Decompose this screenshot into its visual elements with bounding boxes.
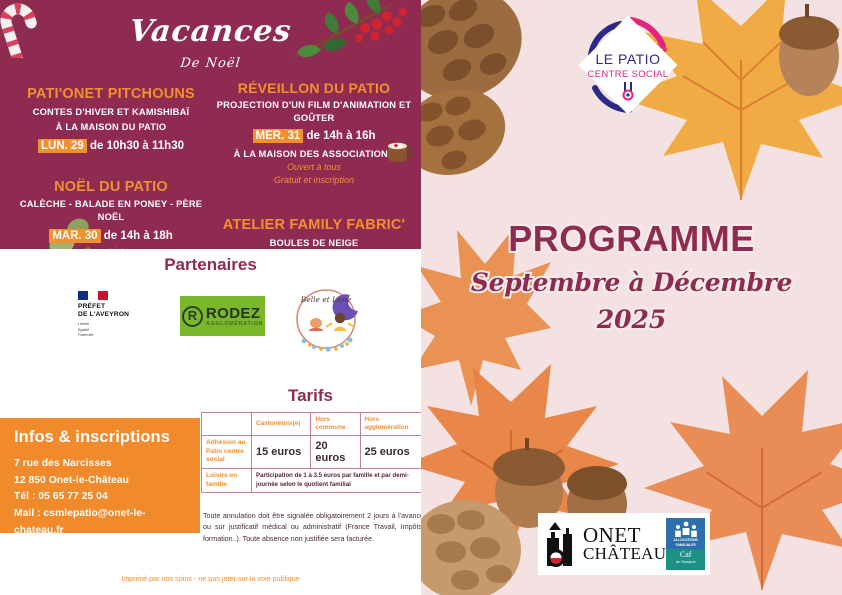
event-date-tag: MER. 31: [253, 129, 304, 143]
programme-period: Septembre à Décembre: [421, 268, 842, 297]
col-header-onetois: Castonétois(e): [252, 413, 311, 436]
event-subtitle: PROJECTION D'UN FILM D'ANIMATION ET GOÛT…: [208, 99, 420, 124]
col-header-hors-agglo: Hors agglomération: [360, 413, 421, 436]
table-header-row: Castonétois(e) Hors commune Hors agglomé…: [202, 413, 422, 436]
onet-line2: CHÂTEAU: [583, 546, 666, 562]
caf-name: Caf: [666, 551, 705, 559]
row-label-loisirs: Loisirs en famille: [202, 468, 252, 493]
infos-phone: Tél : 05 65 77 25 04: [14, 489, 188, 506]
programme-year: 2025: [421, 305, 842, 334]
event-subtitle: CONTES D'HIVER ET KAMISHIBAÏ: [6, 106, 216, 119]
event-schedule: MAR. 30 de 14h à 18h: [6, 229, 216, 243]
rodez-wordmark: RODEZ AGGLOMÉRATION: [206, 306, 263, 327]
event-card: ATELIER FAMILY FABRIC' BOULES DE NEIGE V…: [208, 217, 420, 249]
event-time: de 14h à 16h: [306, 130, 375, 142]
left-panel: Vacances De Noël PATI'ONET PITCHOUNS CON…: [0, 0, 421, 595]
loisirs-participation-text: Participation de 1 à 3.5 euros par famil…: [252, 468, 422, 493]
event-title: RÉVEILLON DU PATIO: [208, 80, 420, 96]
price-hors-commune: 20 euros: [311, 436, 360, 469]
logo-line2: CENTRE SOCIAL: [588, 68, 669, 79]
table-row: Loisirs en famille Participation de 1 à …: [202, 468, 422, 493]
partners-logos: PRÉFET DE L'AVEYRON Liberté Égalité Frat…: [0, 285, 421, 365]
vacances-title: Vacances: [0, 14, 421, 49]
event-card: NOËL DU PATIO CALÈCHE - BALADE EN PONEY …: [6, 179, 216, 249]
partners-heading: Partenaires: [0, 255, 421, 275]
le-patio-centre-social-logo: LE PATIO CENTRE SOCIAL: [573, 10, 683, 120]
infos-heading: Infos & inscriptions: [14, 428, 188, 447]
belle-et-lune-logo: Belle et Lune: [288, 285, 368, 357]
events-column-right: RÉVEILLON DU PATIO PROJECTION D'UN FILM …: [208, 80, 420, 249]
caf-family-icon: [673, 521, 699, 538]
caf-label: ALLOCATIONS FAMILIALES: [666, 538, 705, 547]
price-hors-agglo: 25 euros: [360, 436, 421, 469]
print-notice: Imprimé par nos soins - ne pas jeter sur…: [0, 574, 421, 583]
flyer-page: Vacances De Noël PATI'ONET PITCHOUNS CON…: [0, 0, 842, 595]
event-schedule: LUN. 29 de 10h30 à 11h30: [6, 139, 216, 153]
event-title: NOËL DU PATIO: [6, 179, 216, 196]
event-date-tag: MAR. 30: [49, 229, 100, 243]
prefet-aveyron-logo: PRÉFET DE L'AVEYRON Liberté Égalité Frat…: [78, 291, 150, 339]
event-title: ATELIER FAMILY FABRIC': [208, 217, 420, 234]
infos-city: 12 850 Onet-le-Château: [14, 473, 188, 490]
tarifs-table: Castonétois(e) Hors commune Hors agglomé…: [201, 412, 421, 493]
event-location: À LA MAISON DU PATIO: [6, 121, 216, 134]
acorn-decoration: [764, 0, 842, 104]
rodez-sub: AGGLOMÉRATION: [206, 321, 263, 327]
vacances-subtitle: De Noël: [0, 56, 421, 71]
event-time: de 10h30 à 11h30: [90, 140, 184, 152]
infos-address: 7 rue des Narcisses: [14, 456, 188, 473]
pine-cone-decoration: [421, 78, 516, 188]
right-panel: LE PATIO CENTRE SOCIAL PROGRAMME Septemb…: [421, 0, 842, 595]
caf-top: ALLOCATIONS FAMILIALES: [666, 518, 705, 549]
programme-title-block: PROGRAMME Septembre à Décembre 2025: [421, 218, 842, 334]
prefet-line2: DE L'AVEYRON: [78, 311, 150, 319]
onet-le-chateau-logo: ONET CHÂTEAU: [543, 520, 666, 568]
price-onetois: 15 euros: [252, 436, 311, 469]
event-subtitle: CALÈCHE - BALADE EN PONEY - PÈRE NOËL: [6, 198, 216, 223]
event-title: PATI'ONET PITCHOUNS: [6, 86, 216, 103]
col-header-empty: [202, 413, 252, 436]
caf-logo: ALLOCATIONS FAMILIALES Caf de l'Aveyron: [666, 518, 705, 570]
winter-holidays-block: Vacances De Noël PATI'ONET PITCHOUNS CON…: [0, 0, 421, 249]
footer-logos-box: ONET CHÂTEAU ALLOCATIONS FAMILIALES: [538, 513, 710, 575]
caf-bottom: Caf de l'Aveyron: [666, 549, 705, 570]
pine-cone-decoration: [421, 490, 531, 595]
castle-icon: [543, 520, 581, 568]
event-note: Ouvert à tous: [6, 245, 216, 249]
event-subtitle: BOULES DE NEIGE: [208, 237, 420, 249]
infos-inscriptions-box: Infos & inscriptions 7 rue des Narcisses…: [0, 418, 200, 533]
caf-region: de l'Aveyron: [666, 560, 705, 564]
republic-motto: Liberté Égalité Fraternité: [78, 322, 150, 338]
event-time: de 14h à 18h: [104, 230, 173, 242]
rodez-name: RODEZ: [206, 306, 263, 321]
tarifs-heading: Tarifs: [196, 386, 421, 406]
onet-wordmark: ONET CHÂTEAU: [583, 526, 666, 562]
event-date-tag: LUN. 29: [38, 139, 87, 153]
row-label-adhesion: Adhésion au Patio centre social: [202, 436, 252, 469]
programme-title: PROGRAMME: [421, 218, 842, 260]
event-card: PATI'ONET PITCHOUNS CONTES D'HIVER ET KA…: [6, 86, 216, 153]
rodez-r-icon: R: [182, 306, 203, 327]
cancellation-note: Toute annulation doit être signalée obli…: [203, 511, 421, 545]
prefet-line1: PRÉFET: [78, 303, 150, 311]
onet-line1: ONET: [583, 526, 666, 546]
tarifs-table-wrap: Castonétois(e) Hors commune Hors agglomé…: [201, 412, 421, 493]
rodez-agglomeration-logo: R RODEZ AGGLOMÉRATION: [180, 296, 265, 336]
events-column-left: PATI'ONET PITCHOUNS CONTES D'HIVER ET KA…: [6, 86, 216, 249]
svg-text:Belle et Lune: Belle et Lune: [300, 295, 352, 304]
french-flag-icon: [78, 291, 108, 300]
hot-drink-mug-icon: [384, 137, 414, 167]
table-row: Adhésion au Patio centre social 15 euros…: [202, 436, 422, 469]
logo-line1: LE PATIO: [596, 51, 661, 67]
event-card: RÉVEILLON DU PATIO PROJECTION D'UN FILM …: [208, 80, 420, 187]
infos-mail: Mail : csmlepatio@onet-le-chateau.fr: [14, 506, 188, 539]
col-header-hors-commune: Hors commune: [311, 413, 360, 436]
